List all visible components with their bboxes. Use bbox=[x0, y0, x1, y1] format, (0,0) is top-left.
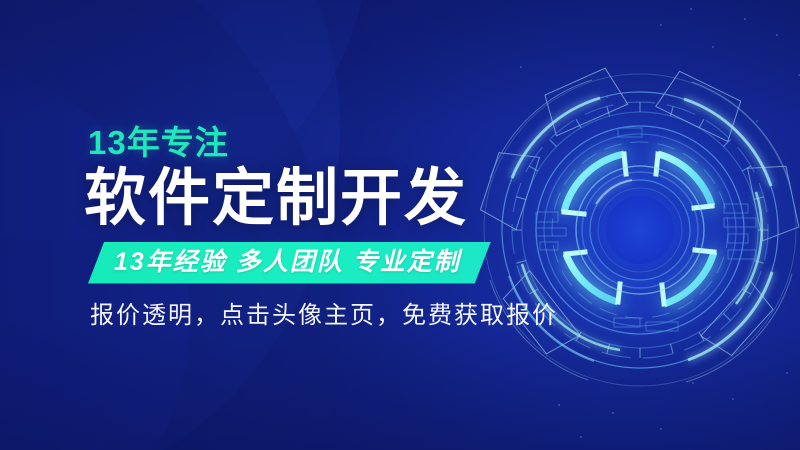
page-title: 软件定制开发 bbox=[84, 168, 504, 230]
tagline-text: 报价透明，点击头像主页，免费获取报价 bbox=[90, 302, 504, 330]
features-ribbon-label: 13年经验 多人团队 专业定制 bbox=[114, 249, 461, 276]
features-ribbon: 13年经验 多人团队 专业定制 bbox=[88, 242, 491, 284]
promo-banner: 13年专注 软件定制开发 13年经验 多人团队 专业定制 报价透明，点击头像主页… bbox=[0, 0, 800, 450]
tech-circle-graphic bbox=[462, 48, 800, 412]
headline-group: 13年专注 软件定制开发 13年经验 多人团队 专业定制 报价透明，点击头像主页… bbox=[84, 126, 504, 329]
eyebrow-text: 13年专注 bbox=[88, 126, 504, 159]
